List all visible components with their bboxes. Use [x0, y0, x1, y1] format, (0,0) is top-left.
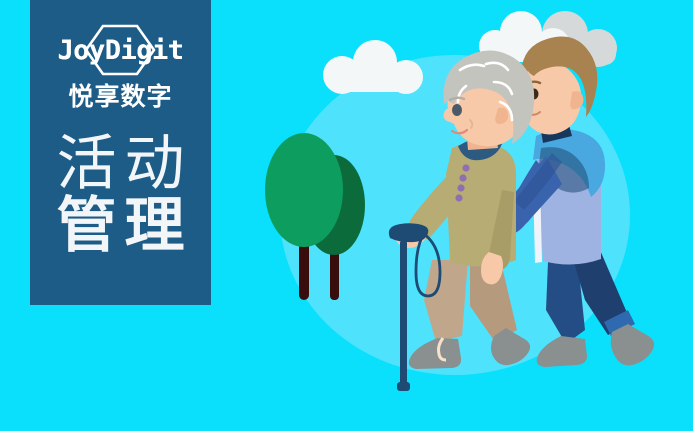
banner: JoyDigit 悦享数字 活动 管理 [0, 0, 693, 431]
logo-mark: JoyDigit [46, 22, 196, 78]
logo-wordmark: JoyDigit [57, 37, 183, 64]
cane-tip [397, 382, 410, 391]
page-title-line-2: 管理 [49, 196, 193, 258]
logo: JoyDigit 悦享数字 [41, 22, 201, 120]
page-title: 活动 管理 [49, 134, 193, 258]
cane-shaft [400, 240, 407, 385]
page-title-line-1: 活动 [49, 134, 193, 196]
brand-panel: JoyDigit 悦享数字 活动 管理 [30, 0, 211, 305]
logo-company-name: 悦享数字 [68, 84, 172, 109]
woman-eye [452, 104, 462, 116]
